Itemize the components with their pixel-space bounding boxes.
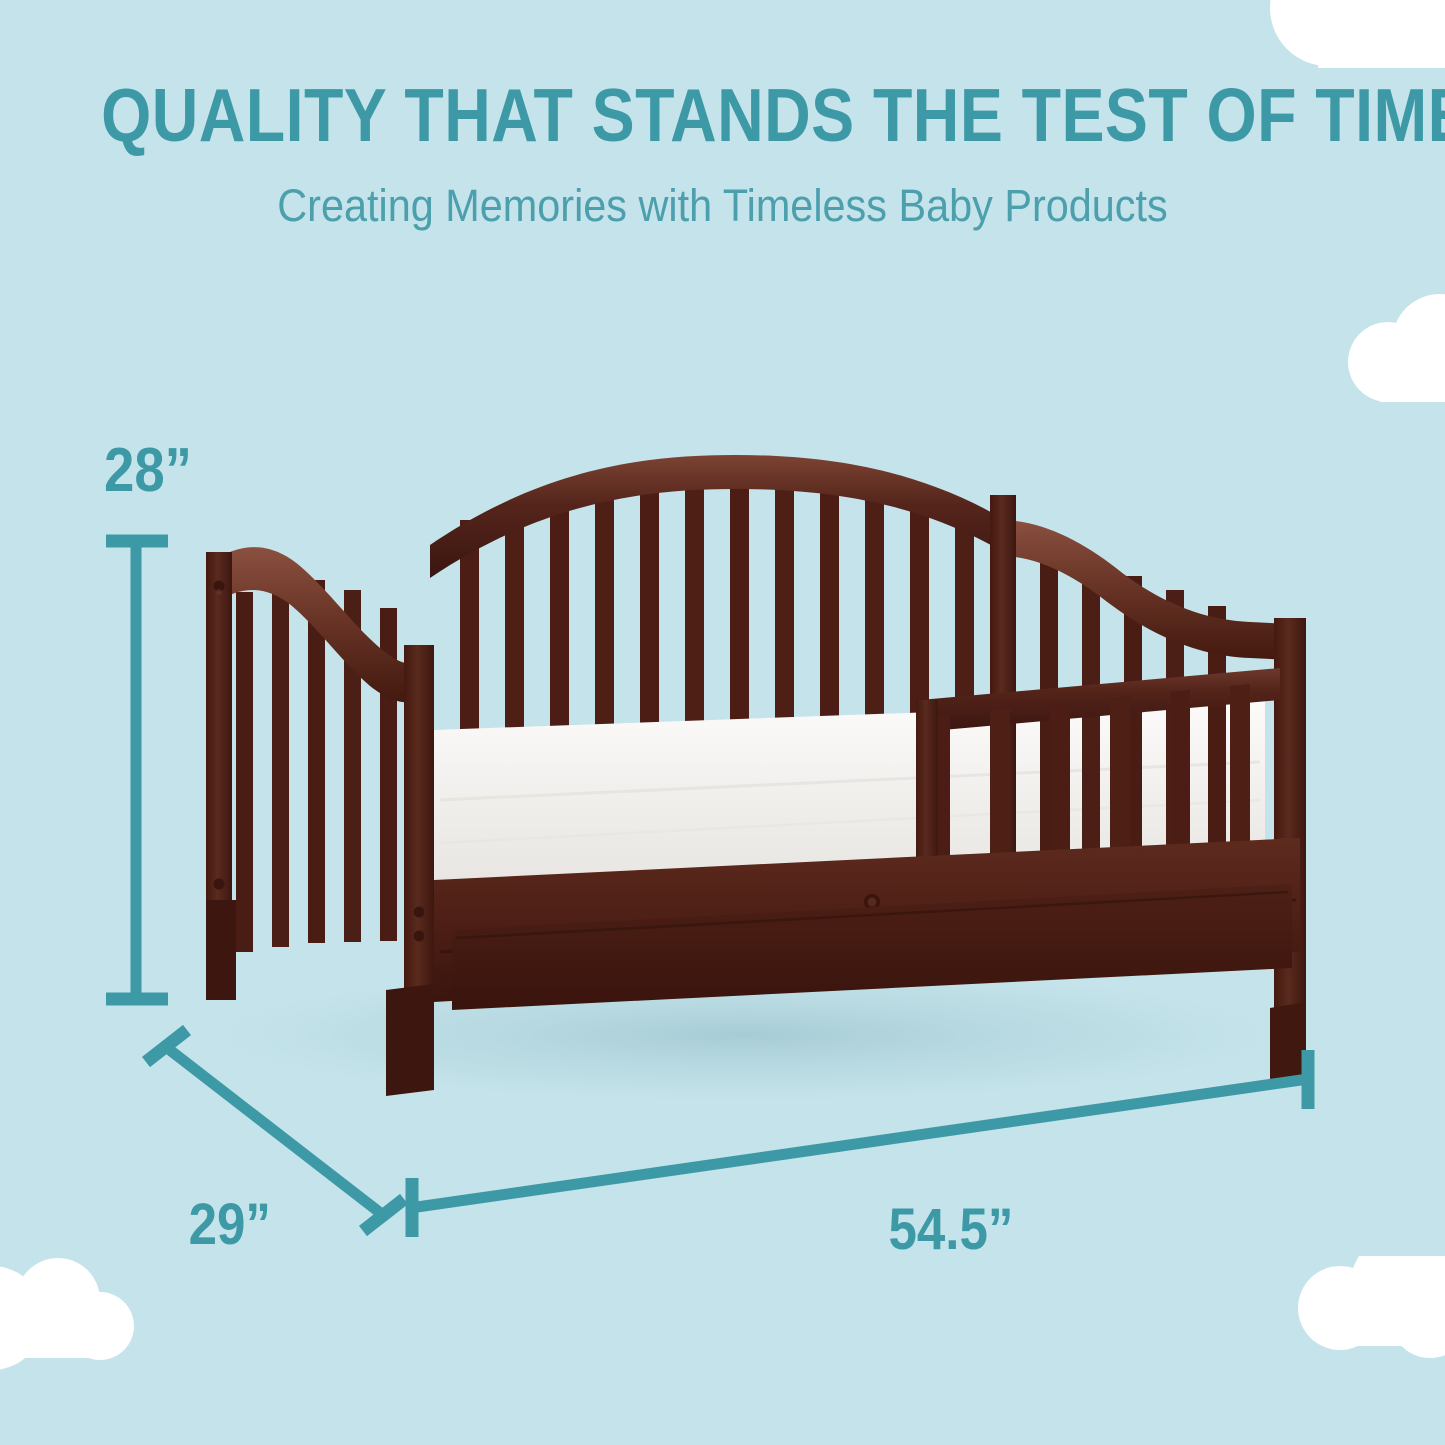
depth-dimension-label: 29”: [189, 1196, 271, 1254]
height-dimension-label: 28”: [104, 440, 192, 502]
infographic-canvas: QUALITY THAT STANDS THE TEST OF TIME Cre…: [0, 0, 1445, 1445]
width-dimension-label: 54.5”: [889, 1201, 1014, 1259]
